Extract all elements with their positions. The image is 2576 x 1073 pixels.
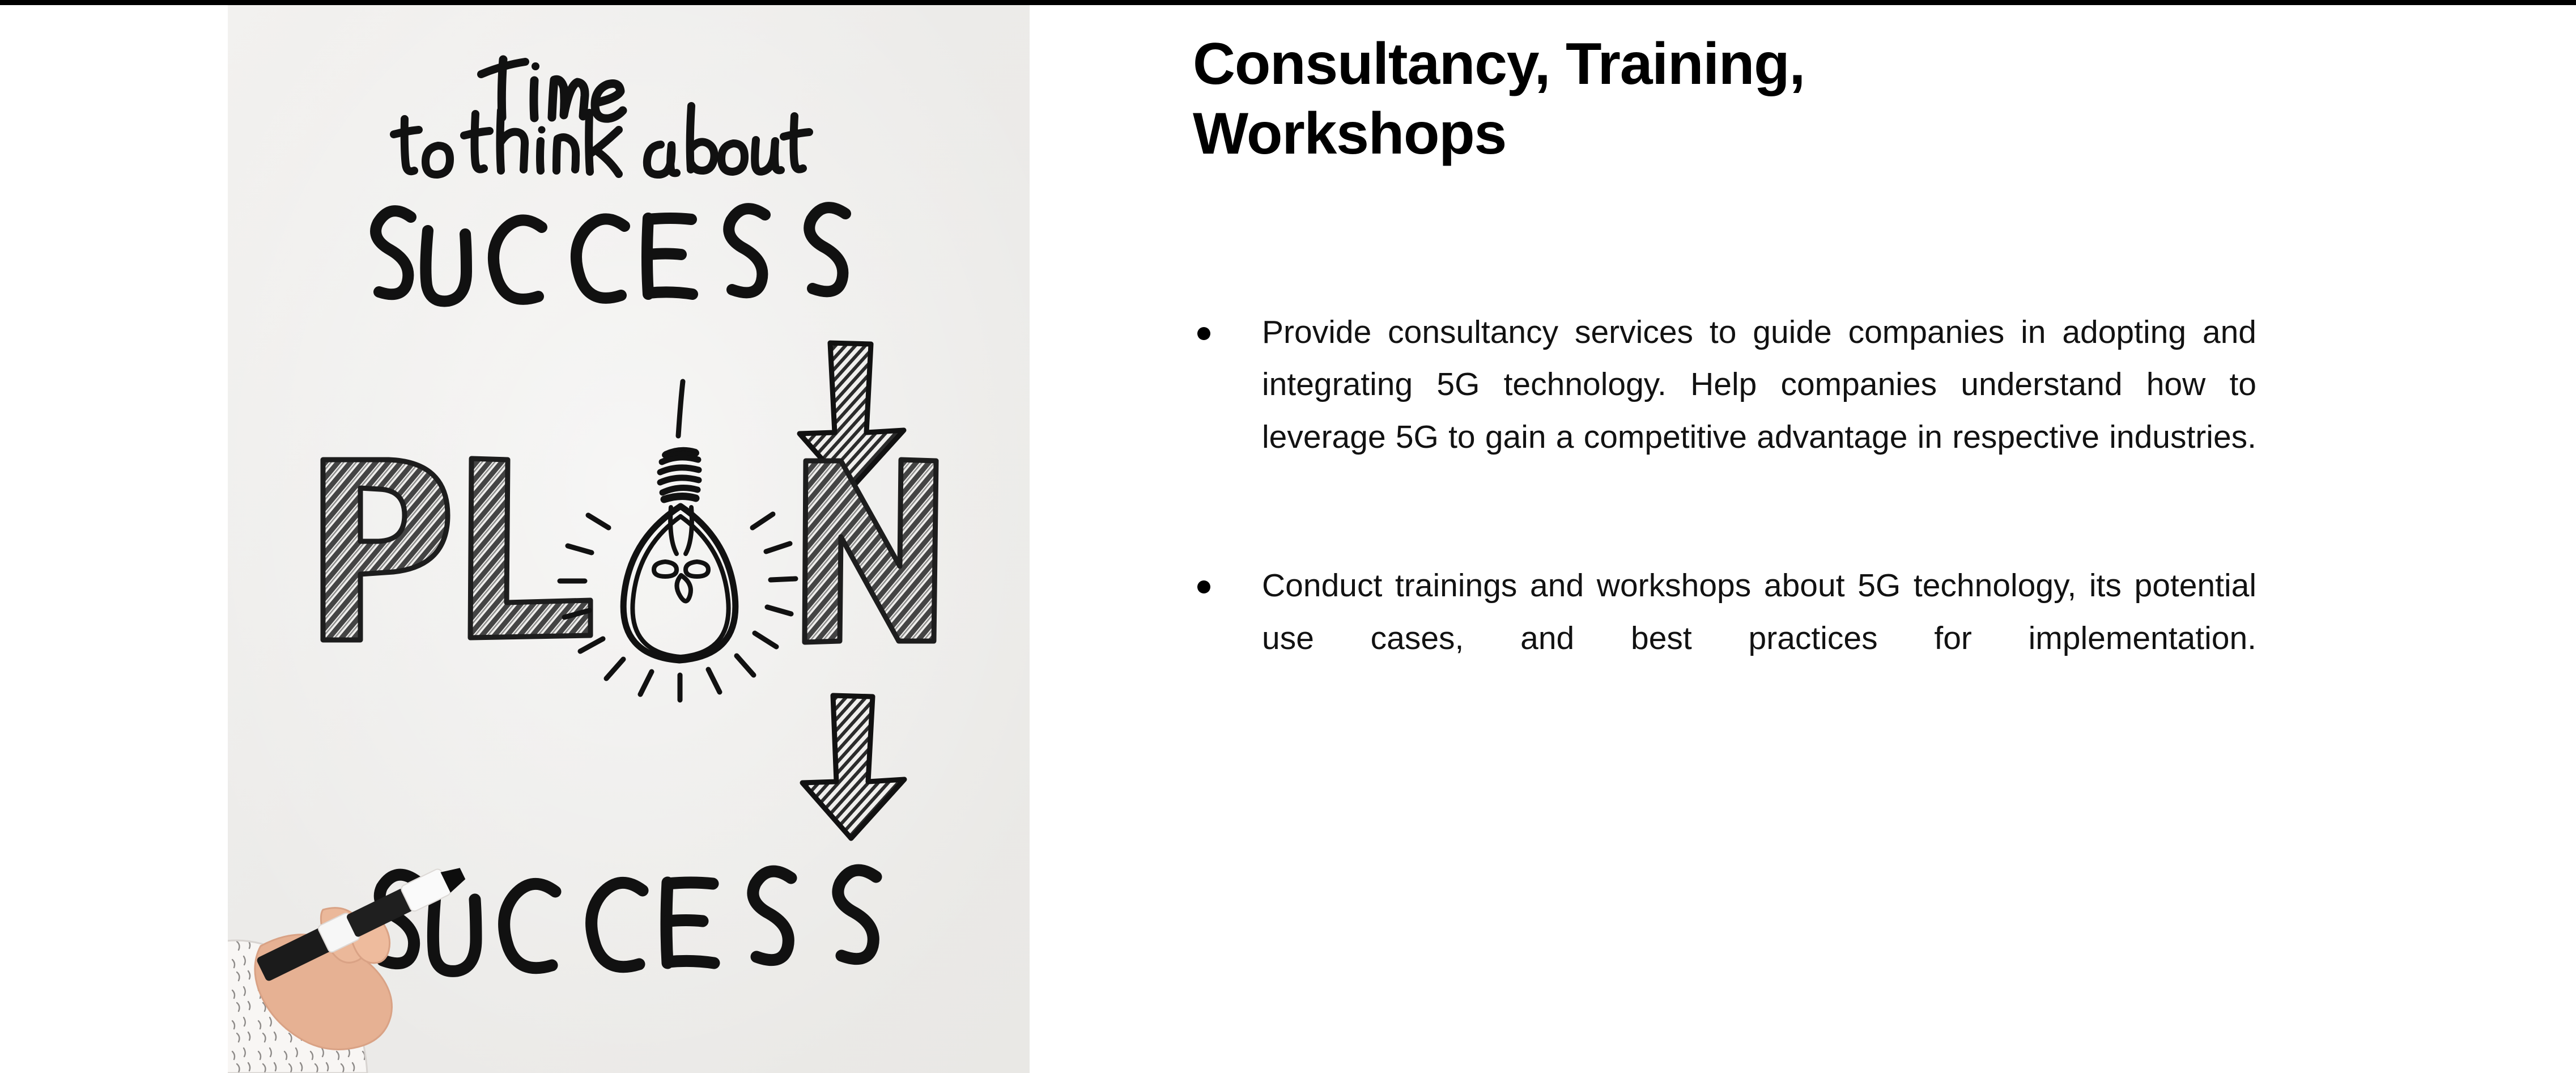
bullet-item-1: Provide consultancy services to guide co… [1193, 306, 2264, 515]
bullet-marker-icon [1197, 327, 1210, 340]
bullet-text-2: Conduct trainings and workshops about 5G… [1262, 559, 2256, 716]
slide-title: Consultancy, Training, Workshops [1193, 29, 2264, 168]
bullet-marker-icon [1197, 580, 1210, 593]
slide-text-column: Consultancy, Training, Workshops Provide… [1193, 0, 2264, 1073]
slide-bullet-list: Provide consultancy services to guide co… [1193, 306, 2264, 716]
bullet-text-1: Provide consultancy services to guide co… [1262, 306, 2256, 515]
whiteboard-photo [228, 5, 1030, 1073]
bullet-item-2: Conduct trainings and workshops about 5G… [1193, 559, 2264, 716]
whiteboard-illustration [228, 5, 1030, 1073]
